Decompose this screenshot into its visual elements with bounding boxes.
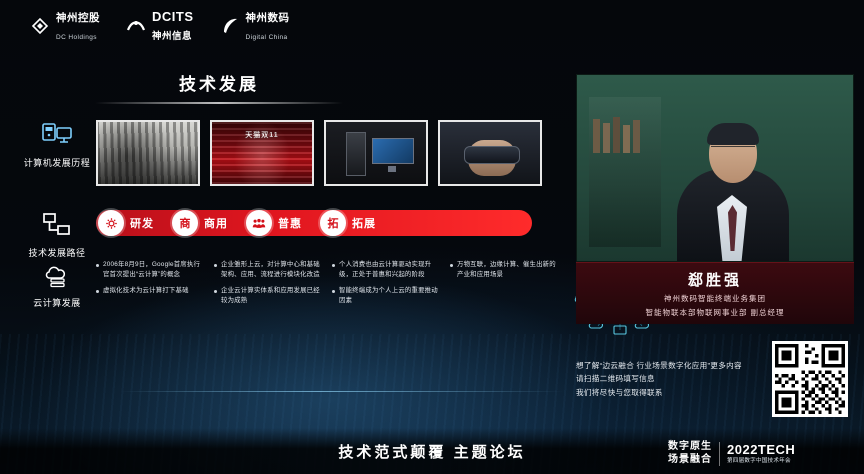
speaker-person (673, 111, 793, 261)
logo-dc-holdings-cn: 神州控股 (56, 12, 100, 24)
qr-text-line-2: 请扫描二维码填写信息 (576, 372, 764, 385)
logo-dcits-brand: DCITS (152, 9, 194, 24)
cloud-bullet: 虚拟化技术为云计算打下基础 (96, 286, 204, 296)
event-year: 2022 (727, 442, 758, 457)
gear-icon (98, 210, 124, 236)
qr-text-line-3: 我们将尽快与您取得联系 (576, 386, 764, 399)
thumbnail-strip: 天猫双11 (96, 120, 542, 186)
slide-title: 技术发展 (54, 70, 384, 104)
path-stage-expand: 拓 拓展 (320, 210, 376, 236)
cloud-development-content: 2006年8月9日，Google首席执行官首次提出“云计算”的概念 虚拟化技术为… (96, 260, 566, 338)
books (593, 117, 640, 153)
logo-dcits: DCITS 神州信息 (126, 8, 194, 45)
logo-digital-china-cn: 神州数码 (246, 12, 290, 24)
speaker-nameplate: 郄胜强 神州数码智能终端业务集团 智能物联本部物联网事业部 副总经理 (576, 262, 854, 324)
row-label-text-3: 云计算发展 (33, 296, 81, 309)
tech-path-bar: 研发 商 商用 普惠 拓 拓展 (96, 210, 532, 236)
qr-text: 想了解“边云融合 行业场景数字化应用”更多内容 请扫描二维码填写信息 我们将尽快… (576, 359, 764, 399)
row-label-tech-path: 技术发展路径 (18, 210, 96, 259)
dc-holdings-logo-icon (30, 16, 50, 36)
logo-digital-china-en: Digital China (246, 34, 288, 41)
cloud-bullet: 万物互联，边缘计算、催生出新的产业和应用场景 (450, 260, 558, 280)
event-subtitle: 第四届数字中国技术年会 (727, 458, 795, 465)
thumb-desktop-pc (324, 120, 428, 186)
thumb-caption: 天猫双11 (245, 130, 278, 140)
path-icon (40, 210, 74, 240)
thumb-vr-headset (438, 120, 542, 186)
path-stage-rd: 研发 (98, 210, 154, 236)
qr-code[interactable] (772, 341, 848, 417)
cloud-column-3: 个人消费也由云计算驱动实现升级，正处于普惠和兴起的阶段 智能终端成为个人上云的重… (332, 260, 440, 338)
digital-china-logo-icon (220, 16, 240, 36)
logo-dc-holdings: 神州控股 DC Holdings (30, 8, 100, 45)
cloud-column-2: 企业雏形上云，对计算中心和基础架构、应用、流程进行模块化改造 企业云计算实体系和… (214, 260, 322, 338)
cloud-server-icon (40, 260, 74, 290)
speaker-title-line-1: 神州数码智能终端业务集团 (664, 293, 766, 304)
event-year-tech: 2022TECH (727, 442, 795, 458)
event-tech: TECH (758, 442, 795, 457)
thumb-historic-street (96, 120, 200, 186)
speaker-video (576, 74, 854, 262)
people-icon (246, 210, 272, 236)
row-computer-history: 计算机发展历程 天猫双11 (18, 120, 542, 186)
path-stage-inclusive: 普惠 (246, 210, 302, 236)
qr-text-line-1: 想了解“边云融合 行业场景数字化应用”更多内容 (576, 359, 764, 372)
sponsor-logo-bar: 神州控股 DC Holdings DCITS 神州信息 (0, 0, 864, 52)
row-cloud-development: 云计算发展 2006年8月9日，Google首席执行官首次提出“云计算”的概念 … (18, 260, 566, 338)
logo-digital-china: 神州数码 Digital China (220, 8, 290, 45)
slide-content: 技术发展 计算机发展历程 天猫双11 (18, 70, 566, 388)
dcits-logo-icon (126, 16, 146, 36)
event-logo-line-2: 场景融合 (668, 454, 712, 467)
path-stage-label-2: 商用 (204, 215, 228, 231)
presentation-stage: 神州控股 DC Holdings DCITS 神州信息 (0, 0, 864, 474)
cloud-bullet: 个人消费也由云计算驱动实现升级，正处于普惠和兴起的阶段 (332, 260, 440, 280)
cloud-bullet: 2006年8月9日，Google首席执行官首次提出“云计算”的概念 (96, 260, 204, 280)
thumb-data-center-red: 天猫双11 (210, 120, 314, 186)
event-logo-divider (719, 442, 720, 466)
path-stage-label-1: 研发 (130, 215, 154, 231)
row-tech-path: 技术发展路径 研发 商 商用 (18, 210, 532, 259)
cloud-bullet: 企业云计算实体系和应用发展已经较为成熟 (214, 286, 322, 306)
row-label-cloud: 云计算发展 (18, 260, 96, 338)
expand-badge: 拓 (320, 210, 346, 236)
commercial-badge: 商 (172, 210, 198, 236)
cloud-bullet-columns: 2006年8月9日，Google首席执行官首次提出“云计算”的概念 虚拟化技术为… (96, 260, 558, 338)
cloud-column-4: 万物互联，边缘计算、催生出新的产业和应用场景 (450, 260, 558, 338)
path-stage-label-3: 普惠 (278, 215, 302, 231)
path-stage-label-4: 拓展 (352, 215, 376, 231)
cloud-bullet: 智能终端成为个人上云的重要推动因素 (332, 286, 440, 306)
event-logo: 数字原生 场景融合 2022TECH 第四届数字中国技术年会 (668, 441, 795, 466)
row-label-text-2: 技术发展路径 (28, 246, 85, 259)
row-label-computer-history: 计算机发展历程 (18, 120, 96, 186)
computer-icon (40, 120, 74, 150)
row-label-text-1: 计算机发展历程 (24, 156, 91, 169)
path-stage-commercial: 商 商用 (172, 210, 228, 236)
speaker-name: 郄胜强 (688, 269, 742, 290)
speaker-title-line-2: 智能物联本部物联网事业部 副总经理 (645, 307, 784, 318)
cloud-column-1: 2006年8月9日，Google首席执行官首次提出“云计算”的概念 虚拟化技术为… (96, 260, 204, 338)
event-logo-line-1: 数字原生 (668, 441, 712, 454)
forum-title: 技术范式颠覆 主题论坛 (338, 441, 525, 462)
logo-dcits-cn: 神州信息 (152, 31, 192, 42)
qr-call-to-action: 想了解“边云融合 行业场景数字化应用”更多内容 请扫描二维码填写信息 我们将尽快… (576, 330, 854, 428)
logo-dc-holdings-en: DC Holdings (56, 34, 97, 41)
cloud-bullet: 企业雏形上云，对计算中心和基础架构、应用、流程进行模块化改造 (214, 260, 322, 280)
